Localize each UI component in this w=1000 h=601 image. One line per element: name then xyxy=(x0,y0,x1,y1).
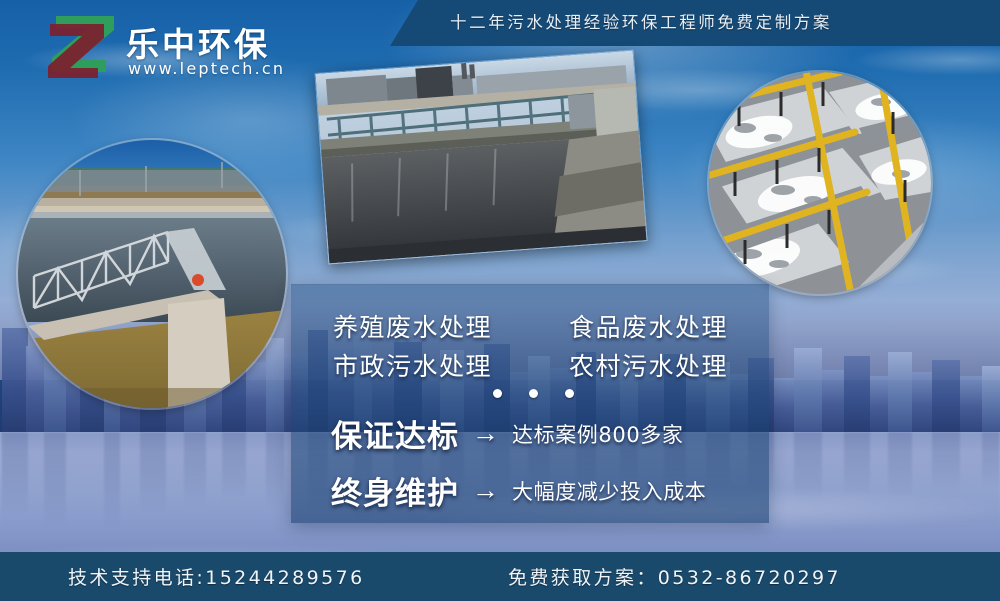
service-item-4: 农村污水处理 xyxy=(569,347,728,383)
photo-wastewater-clarifier-walkway xyxy=(18,140,286,408)
claim-headline: 保证达标 xyxy=(331,411,459,456)
support-phone[interactable]: 技术支持电话:15244289576 xyxy=(68,563,365,590)
dot-icon xyxy=(565,389,574,398)
dot-icon xyxy=(493,389,502,398)
photo-aeration-tanks-yellow-pipes xyxy=(709,72,931,294)
arrow-right-icon: → xyxy=(472,477,499,504)
claim-headline: 终身维护 xyxy=(331,468,459,513)
claim-row-maintenance: 终身维护 → 大幅度减少投入成本 xyxy=(331,468,706,513)
services-panel: 养殖废水处理 食品废水处理 市政污水处理 农村污水处理 保证达标 → 达标案例8… xyxy=(291,284,769,523)
ellipsis-dots xyxy=(493,389,574,398)
claim-row-guarantee: 保证达标 → 达标案例800多家 xyxy=(331,411,683,456)
service-item-3: 市政污水处理 xyxy=(333,347,492,383)
contact-footer: 技术支持电话:15244289576 免费获取方案：0532-86720297 xyxy=(0,552,1000,601)
dot-icon xyxy=(529,389,538,398)
arrow-right-icon: → xyxy=(472,420,499,447)
service-item-1: 养殖废水处理 xyxy=(333,308,492,344)
inquiry-phone[interactable]: 免费获取方案：0532-86720297 xyxy=(508,563,841,590)
claim-subtext: 大幅度减少投入成本 xyxy=(512,476,706,506)
claim-subtext: 达标案例800多家 xyxy=(512,419,683,449)
service-item-2: 食品废水处理 xyxy=(569,308,728,344)
brand-logo[interactable]: 乐中环保 www.leptech.cn xyxy=(48,14,298,86)
promotional-banner: 十二年污水处理经验环保工程师免费定制方案 乐中环保 www.leptech.cn xyxy=(0,0,1000,601)
photo-treatment-plant-aeration-basin xyxy=(314,50,647,265)
z-logo-icon xyxy=(48,14,118,80)
logo-website: www.leptech.cn xyxy=(128,59,285,78)
header-bar: 十二年污水处理经验环保工程师免费定制方案 xyxy=(390,0,1000,46)
header-tagline: 十二年污水处理经验环保工程师免费定制方案 xyxy=(450,0,832,46)
